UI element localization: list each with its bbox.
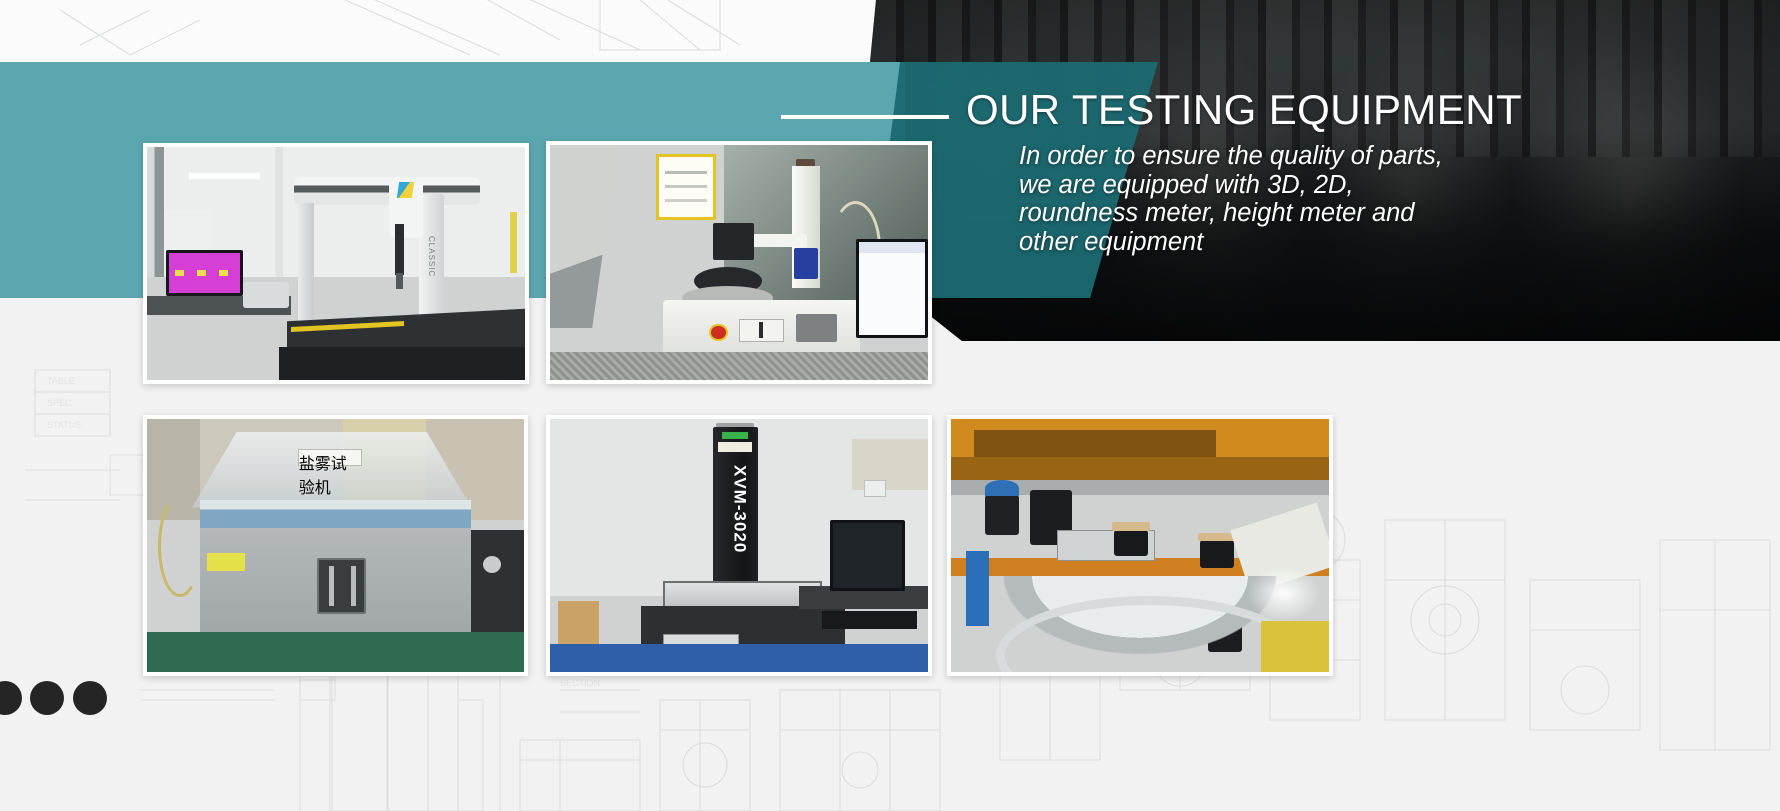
cmm-bridge [294, 177, 479, 205]
machine-model-label: XVM-3020 [730, 465, 750, 553]
inspection-light-glow [1246, 566, 1322, 622]
photo-card-video-measuring-machine[interactable]: XVM-3020 [546, 415, 932, 676]
photo-roundness-meter: RONDI OM41C [550, 145, 928, 380]
chamber-basin [200, 500, 471, 530]
granite-surface-plate [550, 352, 928, 380]
blue-floor-mat [550, 644, 928, 672]
photo-card-cmm-machine[interactable]: CLASSIC [143, 143, 529, 384]
wall-light-strip [189, 173, 261, 179]
side-wall [550, 145, 618, 328]
control-pad[interactable] [796, 314, 838, 342]
power-outlet [864, 480, 887, 498]
carousel-dot-3[interactable] [73, 681, 107, 715]
slide-canvas: TABLE SPEC STATUS DETAIL SECTION VIEW A-… [0, 0, 1780, 811]
supply-hose [158, 495, 202, 597]
photo-card-roundness-meter[interactable]: RONDI OM41C [546, 141, 932, 384]
carousel-dot-1[interactable] [0, 681, 22, 715]
wall-measuring-tape [510, 212, 518, 273]
cmm-probe-tip [396, 273, 404, 289]
control-panel[interactable] [471, 530, 524, 631]
green-epoxy-floor [147, 632, 524, 672]
inspection-head-one [985, 495, 1019, 535]
photo-card-salt-spray-tester[interactable]: 盐雾试验机 [143, 415, 528, 676]
photo-automated-optical-inspection-line [951, 419, 1329, 672]
inspection-head-three [1200, 540, 1234, 568]
vision-monitor [830, 520, 906, 591]
joystick-control[interactable] [739, 319, 784, 343]
photo-salt-spray-test-chamber: 盐雾试验机 [147, 419, 524, 672]
machine-model-label: CLASSIC [427, 236, 436, 277]
yellow-warning-panel [1261, 621, 1329, 672]
wooden-stool [558, 601, 600, 647]
carousel-dots[interactable] [0, 681, 98, 717]
carousel-dot-2[interactable] [30, 681, 64, 715]
chamber-door[interactable] [317, 558, 366, 614]
inspection-pass-tag [722, 432, 748, 440]
inspection-head-two [1114, 530, 1148, 555]
title-rule [781, 115, 949, 119]
brand-logo-icon [397, 182, 414, 198]
printer [243, 282, 288, 308]
photo-card-automated-inspection[interactable] [947, 415, 1333, 676]
amber-lit-enclosure [951, 419, 1329, 482]
operating-instructions-poster [656, 154, 716, 220]
calibration-sticker [207, 553, 245, 571]
brand-badge-icon [794, 248, 819, 279]
photo-coordinate-measuring-machine: CLASSIC [147, 147, 525, 380]
page-subtitle: In order to ensure the quality of parts,… [1019, 142, 1449, 256]
software-monitor [856, 239, 928, 338]
measurement-monitor [166, 250, 243, 297]
chamber-name-plate: 盐雾试验机 [298, 449, 362, 465]
emergency-stop-button[interactable] [709, 324, 728, 342]
page-title: OUR TESTING EQUIPMENT [966, 86, 1522, 134]
granite-base [279, 347, 525, 380]
photo-video-measuring-machine: XVM-3020 [550, 419, 928, 672]
asset-label [718, 442, 752, 452]
probe-holder [713, 223, 755, 261]
cmm-left-column [298, 203, 314, 324]
cmm-probe-shaft [395, 224, 405, 275]
keyboard [822, 611, 917, 629]
